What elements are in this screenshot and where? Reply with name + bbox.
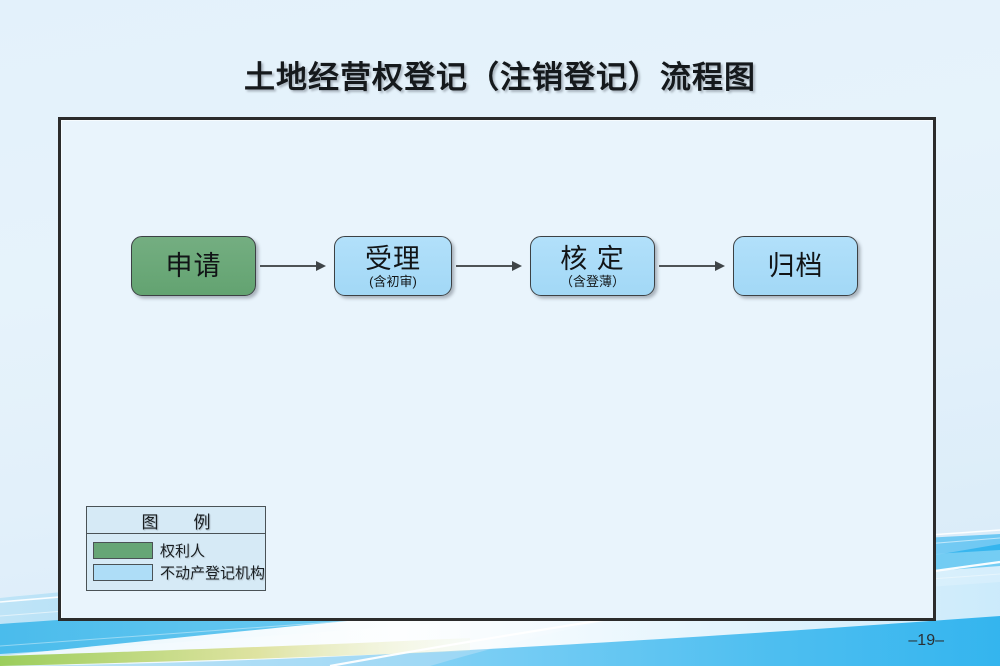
- arrow-head-icon: [715, 261, 725, 271]
- flow-node-accept-sublabel: (含初审): [369, 275, 417, 288]
- slide-canvas: 土地经营权登记（注销登记）流程图 申请 受理 (含初审) 核 定 （含登薄）: [0, 0, 1000, 666]
- flow-node-accept[interactable]: 受理 (含初审): [334, 236, 452, 296]
- arrow-shaft-icon: [260, 265, 323, 267]
- diagram-frame: 申请 受理 (含初审) 核 定 （含登薄）: [58, 117, 936, 621]
- arrow-shaft-icon: [659, 265, 722, 267]
- flow-arrow-1: [256, 260, 334, 272]
- legend-label-registry-agency: 不动产登记机构: [160, 562, 265, 583]
- flow-node-archive-label: 归档: [768, 253, 824, 280]
- flow-node-verify-label: 核 定: [560, 246, 625, 273]
- flow-arrow-2: [452, 260, 530, 272]
- flowchart-row: 申请 受理 (含初审) 核 定 （含登薄）: [131, 236, 858, 296]
- flow-node-verify[interactable]: 核 定 （含登薄）: [530, 236, 655, 296]
- legend-title: 图 例: [87, 507, 265, 534]
- legend-item-rights-holder: 权利人: [93, 540, 259, 560]
- arrow-head-icon: [316, 261, 326, 271]
- legend-swatch-green: [93, 542, 153, 559]
- legend-label-rights-holder: 权利人: [160, 540, 205, 561]
- flow-node-apply[interactable]: 申请: [131, 236, 256, 296]
- flow-arrow-3: [655, 260, 733, 272]
- flow-node-apply-label: 申请: [166, 253, 222, 280]
- page-title: 土地经营权登记（注销登记）流程图: [0, 52, 1000, 97]
- arrow-shaft-icon: [456, 265, 519, 267]
- flow-node-archive[interactable]: 归档: [733, 236, 858, 296]
- page-number: –19–: [908, 632, 944, 650]
- arrow-head-icon: [512, 261, 522, 271]
- legend-item-registry-agency: 不动产登记机构: [93, 562, 259, 582]
- flow-node-verify-sublabel: （含登薄）: [560, 275, 625, 288]
- flow-node-accept-label: 受理: [365, 246, 421, 273]
- legend: 图 例 权利人 不动产登记机构: [86, 506, 266, 591]
- legend-body: 权利人 不动产登记机构: [87, 534, 265, 590]
- legend-swatch-blue: [93, 564, 153, 581]
